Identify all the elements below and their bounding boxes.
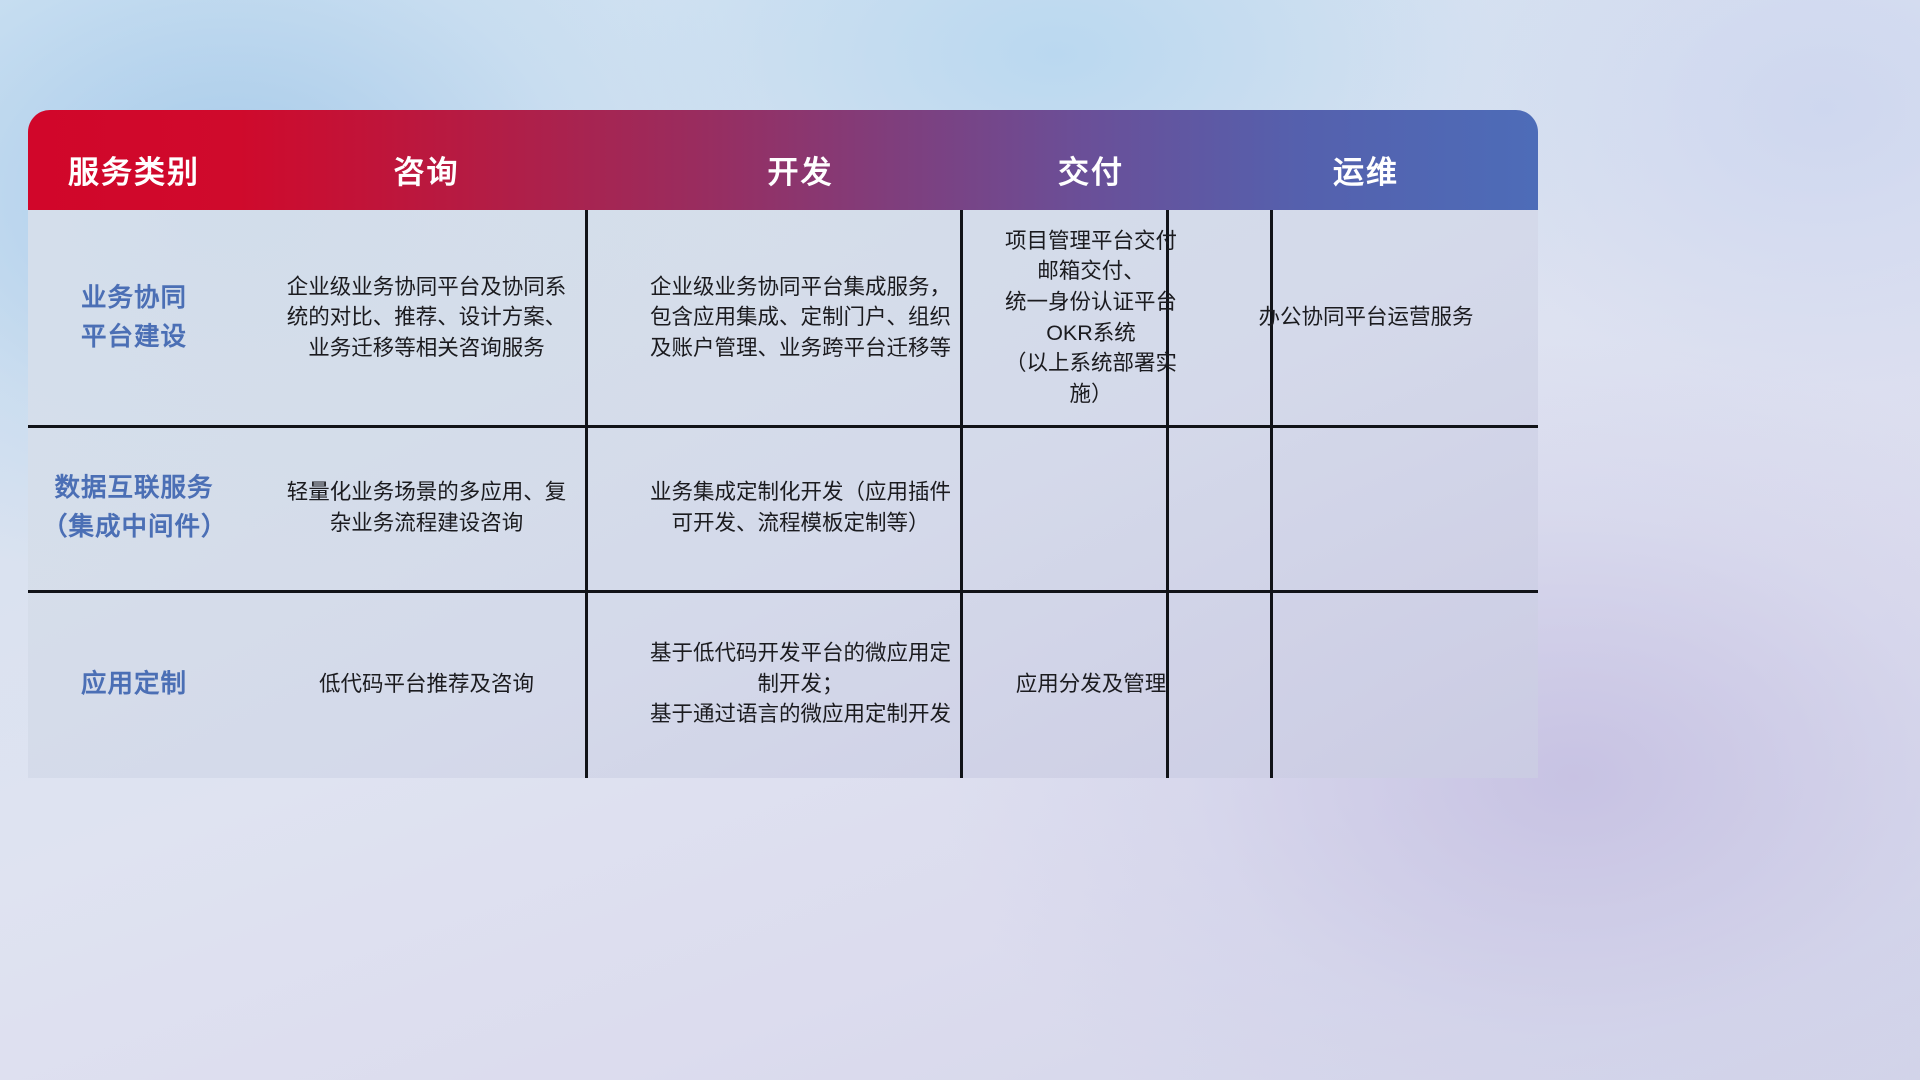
table-body: 业务协同 平台建设 企业级业务协同平台及协同系 统的对比、推荐、设计方案、 业务… [28,210,1538,778]
table-header-row: 服务类别 咨询 开发 交付 运维 [28,110,1538,210]
cell-row2-development: 业务集成定制化开发（应用插件 可开发、流程模板定制等） [613,425,988,590]
row-label-business-collaboration-platform: 业务协同 平台建设 [28,210,240,425]
table-row: 数据互联服务 （集成中间件） 轻量化业务场景的多应用、复 杂业务流程建设咨询 业… [28,425,1538,590]
column-header-operations: 运维 [1194,147,1538,210]
cell-row2-delivery [988,425,1194,590]
row-label-data-interconnect-service: 数据互联服务 （集成中间件） [28,425,240,590]
cell-row2-consulting: 轻量化业务场景的多应用、复 杂业务流程建设咨询 [240,425,613,590]
cell-row1-delivery: 项目管理平台交付 邮箱交付、 统一身份认证平台 OKR系统 （以上系统部署实施） [988,210,1194,425]
table-row: 业务协同 平台建设 企业级业务协同平台及协同系 统的对比、推荐、设计方案、 业务… [28,210,1538,425]
column-header-delivery: 交付 [988,147,1194,210]
cell-row1-development: 企业级业务协同平台集成服务， 包含应用集成、定制门户、组织 及账户管理、业务跨平… [613,210,988,425]
cell-row3-consulting: 低代码平台推荐及咨询 [240,590,613,778]
cell-row3-development: 基于低代码开发平台的微应用定 制开发； 基于通过语言的微应用定制开发 [613,590,988,778]
column-header-consulting: 咨询 [240,147,613,210]
service-matrix-table: 服务类别 咨询 开发 交付 运维 业务协同 平台建设 企业级业务协同平台及协同系… [28,110,1538,778]
cell-row1-consulting: 企业级业务协同平台及协同系 统的对比、推荐、设计方案、 业务迁移等相关咨询服务 [240,210,613,425]
cell-row1-operations: 办公协同平台运营服务 [1194,210,1538,425]
cell-row3-operations [1194,590,1538,778]
column-header-development: 开发 [613,147,988,210]
cell-row3-delivery: 应用分发及管理 [988,590,1194,778]
cell-row2-operations [1194,425,1538,590]
row-label-application-customization: 应用定制 [28,590,240,778]
column-header-service-category: 服务类别 [28,147,240,210]
table-row: 应用定制 低代码平台推荐及咨询 基于低代码开发平台的微应用定 制开发； 基于通过… [28,590,1538,778]
